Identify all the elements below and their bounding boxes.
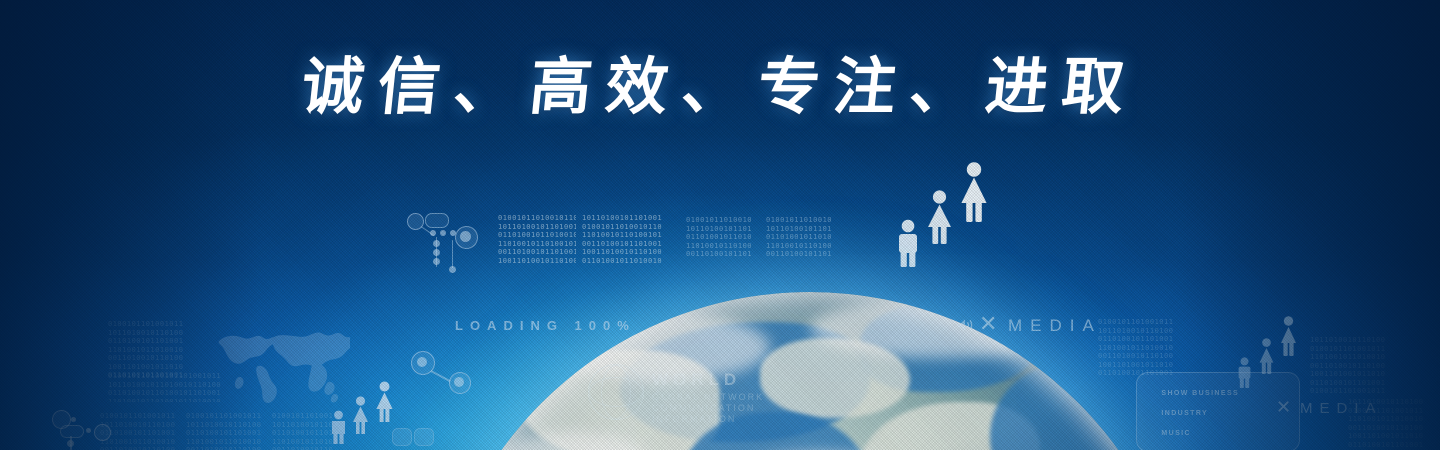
page-title: 诚信、高效、专注、进取 <box>0 56 1440 118</box>
corporate-hero-banner: 0100101101001011 1011010010110100 011010… <box>0 0 1440 450</box>
